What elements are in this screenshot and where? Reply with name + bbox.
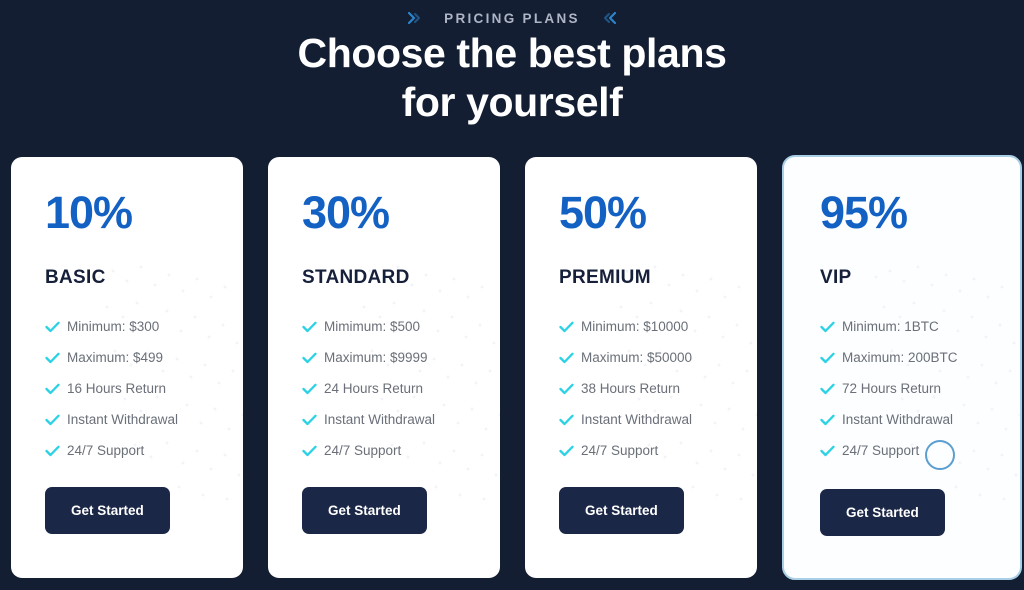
feature-label: 16 Hours Return: [67, 381, 166, 396]
pricing-card-standard[interactable]: 30% STANDARD Mimimum: $500 Maximum: $999…: [268, 157, 500, 578]
check-icon: [45, 383, 67, 395]
check-icon: [559, 414, 581, 426]
list-item: 24 Hours Return: [302, 373, 500, 404]
plan-percent: 50%: [559, 190, 757, 235]
check-icon: [45, 321, 67, 333]
check-icon: [45, 414, 67, 426]
section-eyebrow: PRICING PLANS: [0, 6, 1024, 30]
list-item: 16 Hours Return: [45, 373, 243, 404]
feature-label: Mimimum: $500: [324, 319, 420, 334]
pricing-card-vip[interactable]: 95% VIP Minimum: 1BTC Maximum: 200BTC 72…: [782, 155, 1022, 580]
feature-label: Maximum: $50000: [581, 350, 692, 365]
check-icon: [559, 321, 581, 333]
check-icon: [302, 352, 324, 364]
list-item: 38 Hours Return: [559, 373, 757, 404]
plan-percent: 95%: [820, 190, 1020, 235]
list-item: Maximum: 200BTC: [820, 342, 1020, 373]
headline-line-1: Choose the best plans: [0, 29, 1024, 78]
check-icon: [820, 321, 842, 333]
plan-feature-list: Minimum: $300 Maximum: $499 16 Hours Ret…: [45, 311, 243, 466]
check-icon: [302, 383, 324, 395]
plan-name: STANDARD: [302, 267, 500, 289]
feature-label: Instant Withdrawal: [324, 412, 435, 427]
feature-label: 24 Hours Return: [324, 381, 423, 396]
get-started-button[interactable]: Get Started: [559, 487, 684, 534]
list-item: Minimum: $300: [45, 311, 243, 342]
feature-label: Minimum: $300: [67, 319, 159, 334]
feature-label: Maximum: $499: [67, 350, 163, 365]
list-item: 24/7 Support: [559, 435, 757, 466]
plan-percent: 30%: [302, 190, 500, 235]
list-item: Maximum: $50000: [559, 342, 757, 373]
check-icon: [302, 321, 324, 333]
eyebrow-label: PRICING PLANS: [444, 11, 580, 26]
list-item: Minimum: $10000: [559, 311, 757, 342]
get-started-button[interactable]: Get Started: [820, 489, 945, 536]
list-item: Mimimum: $500: [302, 311, 500, 342]
feature-label: Instant Withdrawal: [581, 412, 692, 427]
page-title: Choose the best plans for yourself: [0, 29, 1024, 127]
check-icon: [559, 445, 581, 457]
pricing-page: PRICING PLANS Choose the best plans for …: [0, 0, 1024, 590]
check-icon: [820, 445, 842, 457]
check-icon: [820, 414, 842, 426]
check-icon: [559, 352, 581, 364]
list-item: Instant Withdrawal: [302, 404, 500, 435]
double-chevron-right-icon: [408, 12, 422, 24]
feature-label: 38 Hours Return: [581, 381, 680, 396]
plan-percent: 10%: [45, 190, 243, 235]
list-item: 24/7 Support: [820, 435, 1020, 466]
feature-label: 24/7 Support: [581, 443, 658, 458]
feature-label: Maximum: $9999: [324, 350, 428, 365]
feature-label: 72 Hours Return: [842, 381, 941, 396]
pricing-card-premium[interactable]: 50% PREMIUM Minimum: $10000 Maximum: $50…: [525, 157, 757, 578]
list-item: Instant Withdrawal: [820, 404, 1020, 435]
check-icon: [820, 383, 842, 395]
feature-label: Minimum: $10000: [581, 319, 688, 334]
list-item: Instant Withdrawal: [559, 404, 757, 435]
headline-line-2: for yourself: [0, 78, 1024, 127]
plan-feature-list: Mimimum: $500 Maximum: $9999 24 Hours Re…: [302, 311, 500, 466]
double-chevron-left-icon: [602, 12, 616, 24]
feature-label: Maximum: 200BTC: [842, 350, 958, 365]
check-icon: [302, 445, 324, 457]
plan-name: BASIC: [45, 267, 243, 289]
feature-label: 24/7 Support: [842, 443, 919, 458]
feature-label: Minimum: 1BTC: [842, 319, 939, 334]
plan-feature-list: Minimum: $10000 Maximum: $50000 38 Hours…: [559, 311, 757, 466]
check-icon: [45, 352, 67, 364]
check-icon: [45, 445, 67, 457]
list-item: Maximum: $9999: [302, 342, 500, 373]
list-item: 24/7 Support: [302, 435, 500, 466]
list-item: Maximum: $499: [45, 342, 243, 373]
check-icon: [559, 383, 581, 395]
plan-name: VIP: [820, 267, 1020, 289]
feature-label: 24/7 Support: [67, 443, 144, 458]
check-icon: [820, 352, 842, 364]
plan-feature-list: Minimum: 1BTC Maximum: 200BTC 72 Hours R…: [820, 311, 1020, 466]
feature-label: 24/7 Support: [324, 443, 401, 458]
get-started-button[interactable]: Get Started: [45, 487, 170, 534]
plan-name: PREMIUM: [559, 267, 757, 289]
feature-label: Instant Withdrawal: [842, 412, 953, 427]
list-item: Minimum: 1BTC: [820, 311, 1020, 342]
list-item: Instant Withdrawal: [45, 404, 243, 435]
get-started-button[interactable]: Get Started: [302, 487, 427, 534]
pricing-card-basic[interactable]: 10% BASIC Minimum: $300 Maximum: $499 16…: [11, 157, 243, 578]
pricing-card-list: 10% BASIC Minimum: $300 Maximum: $499 16…: [11, 157, 1019, 580]
feature-label: Instant Withdrawal: [67, 412, 178, 427]
list-item: 24/7 Support: [45, 435, 243, 466]
check-icon: [302, 414, 324, 426]
list-item: 72 Hours Return: [820, 373, 1020, 404]
